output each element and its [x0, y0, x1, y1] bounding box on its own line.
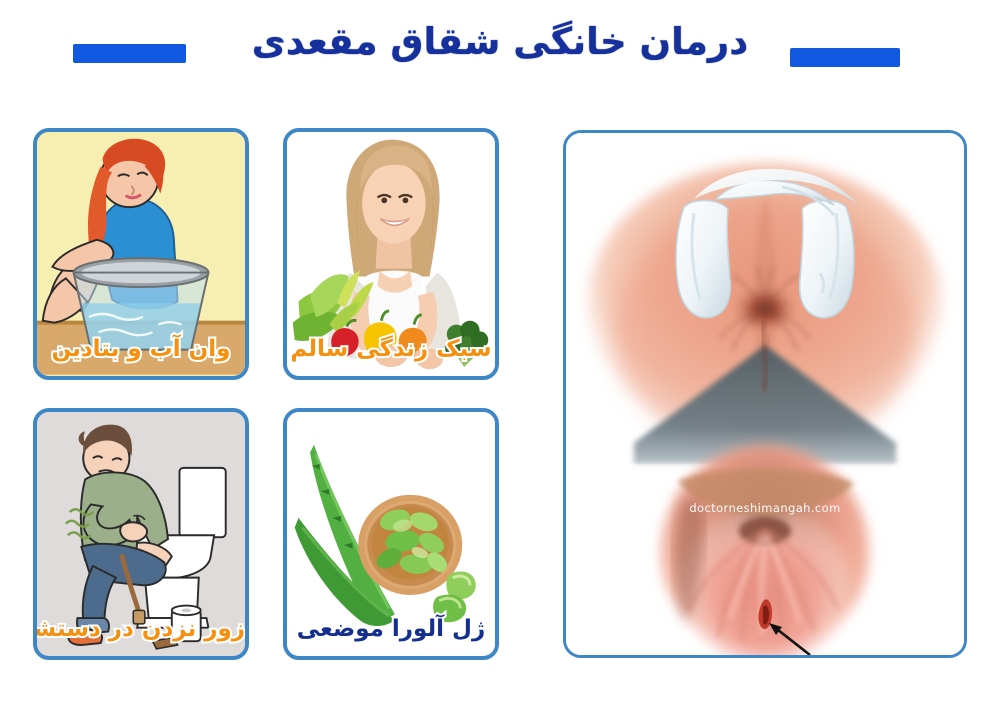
anal-examination-illustration — [566, 133, 964, 655]
card-no-straining[interactable]: زور نزدن در دستشویی — [33, 408, 249, 660]
page-title: درمان خانگی شقاق مقعدی — [252, 20, 748, 63]
card-label-sitz-bath: وان آب و بتادین — [37, 336, 245, 362]
medical-illustration-panel: doctorneshimangah.com — [563, 130, 967, 658]
anal-fissure-closeup — [661, 445, 869, 655]
watermark: doctorneshimangah.com — [566, 501, 964, 515]
card-aloe-gel[interactable]: ژل آلورا موضعی — [283, 408, 499, 660]
decorative-bar-right — [790, 48, 900, 67]
card-label-no-straining: زور نزدن در دستشویی — [37, 616, 245, 642]
card-label-healthy-lifestyle: سبک زندگی سالم — [287, 336, 495, 362]
card-sitz-bath[interactable]: وان آب و بتادین — [33, 128, 249, 380]
card-label-aloe-gel: ژل آلورا موضعی — [287, 616, 495, 642]
infographic-page: درمان خانگی شقاق مقعدی — [0, 0, 1000, 710]
header: درمان خانگی شقاق مقعدی — [0, 0, 1000, 110]
card-healthy-lifestyle[interactable]: سبک زندگی سالم — [283, 128, 499, 380]
decorative-bar-left — [73, 44, 186, 63]
